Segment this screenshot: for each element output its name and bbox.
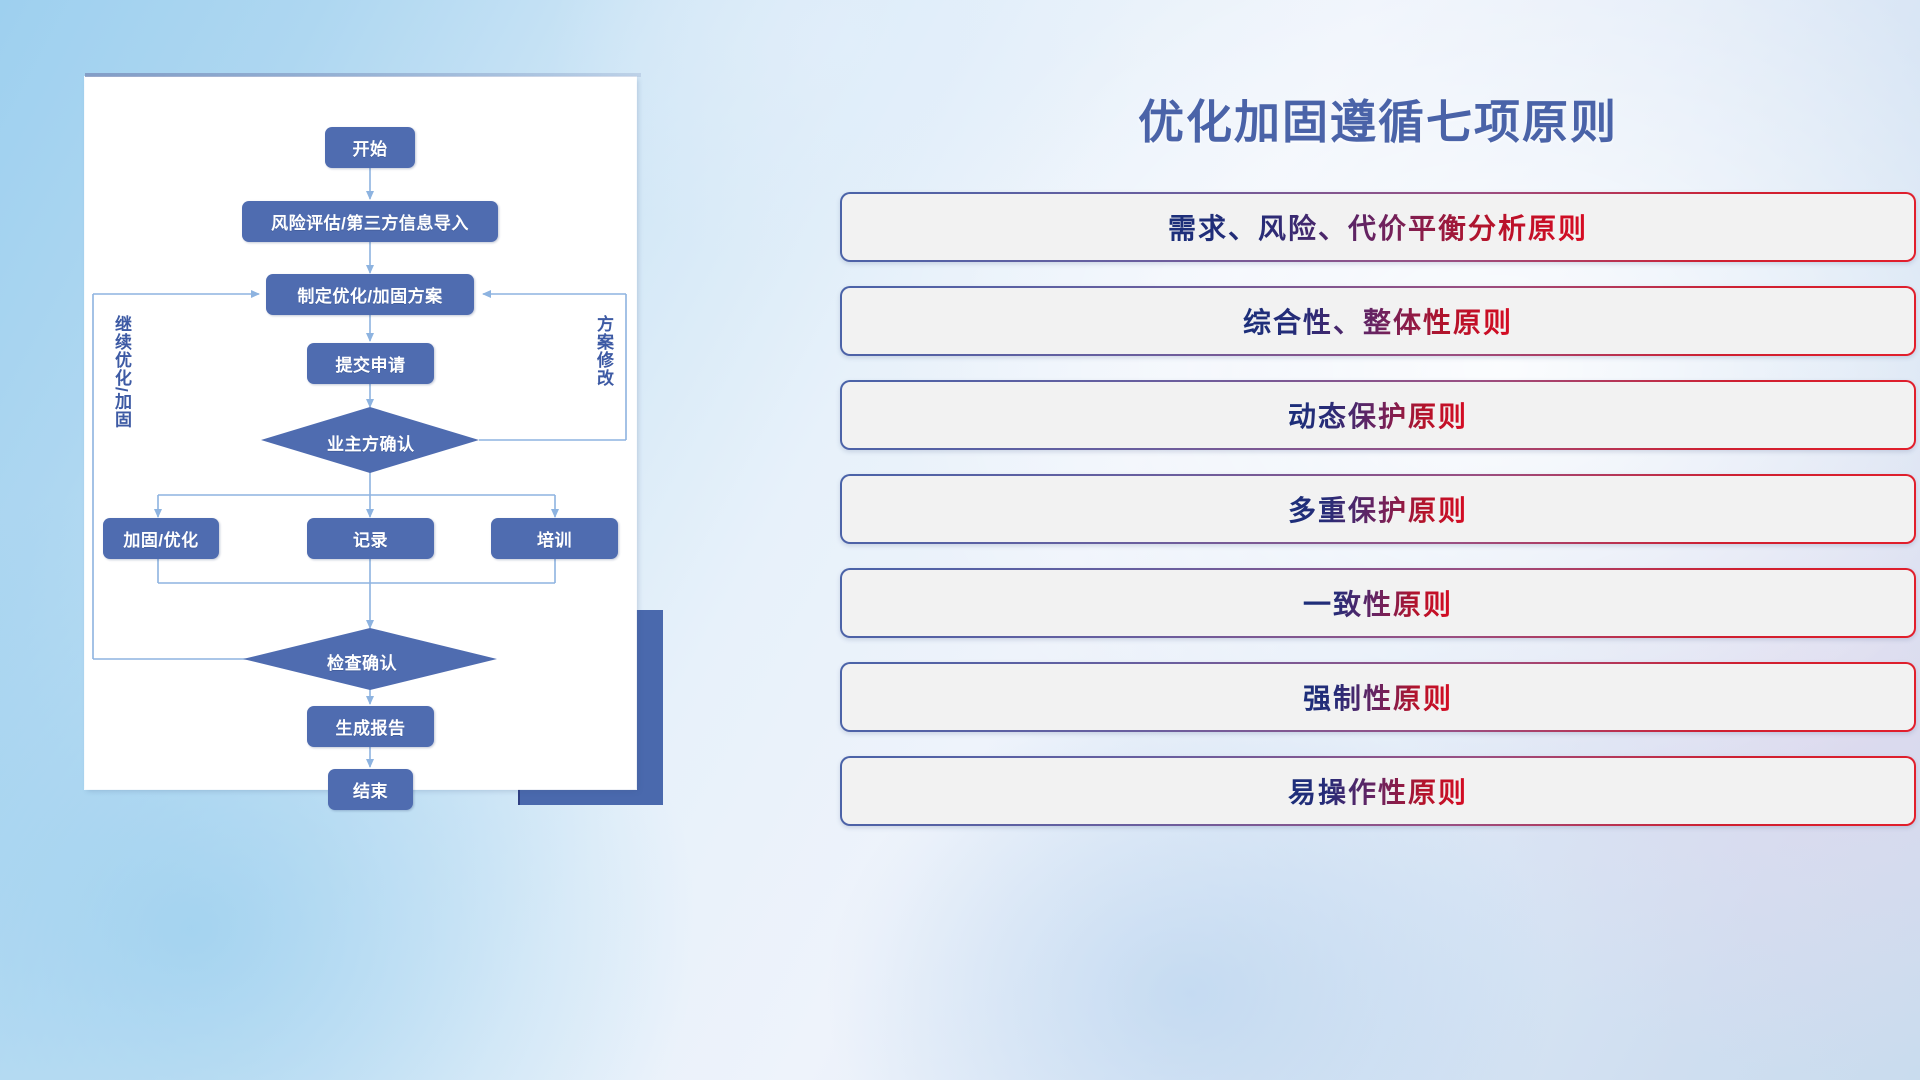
node-end[interactable]: 结束 <box>328 769 413 810</box>
principle-card[interactable]: 多重保护原则 <box>840 474 1916 544</box>
principle-card[interactable]: 易操作性原则 <box>840 756 1916 826</box>
node-training[interactable]: 培训 <box>491 518 618 559</box>
principle-card[interactable]: 动态保护原则 <box>840 380 1916 450</box>
principle-card-inner: 易操作性原则 <box>842 758 1914 824</box>
flowchart: 开始 风险评估/第三方信息导入 制定优化/加固方案 提交申请 业主方确认 加固/… <box>85 77 636 789</box>
principle-card[interactable]: 需求、风险、代价平衡分析原则 <box>840 192 1916 262</box>
node-owner-confirm-label: 业主方确认 <box>327 430 415 455</box>
principle-card[interactable]: 强制性原则 <box>840 662 1916 732</box>
edge-label-plan-revision: 方案修改 <box>594 315 612 387</box>
principle-card-inner: 综合性、整体性原则 <box>842 288 1914 354</box>
node-check-confirm-label: 检查确认 <box>327 649 397 674</box>
page-title: 优化加固遵循七项原则 <box>836 86 1920 152</box>
node-submit-application-label: 提交申请 <box>336 351 406 376</box>
node-start-label: 开始 <box>353 135 388 160</box>
principle-label: 多重保护原则 <box>1288 489 1468 529</box>
principle-card[interactable]: 一致性原则 <box>840 568 1916 638</box>
principle-label: 需求、风险、代价平衡分析原则 <box>1168 207 1588 247</box>
node-risk-assessment-label: 风险评估/第三方信息导入 <box>271 209 469 234</box>
principle-card-inner: 动态保护原则 <box>842 382 1914 448</box>
principle-label: 一致性原则 <box>1303 583 1453 623</box>
principle-label: 综合性、整体性原则 <box>1243 301 1513 341</box>
node-end-label: 结束 <box>353 777 388 802</box>
node-record[interactable]: 记录 <box>307 518 434 559</box>
node-reinforce-optimize[interactable]: 加固/优化 <box>103 518 219 559</box>
node-generate-report-label: 生成报告 <box>336 714 406 739</box>
node-submit-application[interactable]: 提交申请 <box>307 343 434 384</box>
principle-label: 强制性原则 <box>1303 677 1453 717</box>
node-start[interactable]: 开始 <box>325 127 415 168</box>
principle-label: 动态保护原则 <box>1288 395 1468 435</box>
node-record-label: 记录 <box>353 526 388 551</box>
principle-card[interactable]: 综合性、整体性原则 <box>840 286 1916 356</box>
node-make-plan-label: 制定优化/加固方案 <box>297 282 442 307</box>
principle-card-inner: 多重保护原则 <box>842 476 1914 542</box>
node-training-label: 培训 <box>537 526 572 551</box>
edge-label-continue-optimize: 继续优化/加固 <box>112 315 130 429</box>
principles-list: 需求、风险、代价平衡分析原则 综合性、整体性原则 动态保护原则 多重保护原则 <box>840 192 1916 850</box>
flowchart-card: 开始 风险评估/第三方信息导入 制定优化/加固方案 提交申请 业主方确认 加固/… <box>85 77 636 789</box>
node-risk-assessment[interactable]: 风险评估/第三方信息导入 <box>242 201 498 242</box>
node-generate-report[interactable]: 生成报告 <box>307 706 434 747</box>
principle-card-inner: 强制性原则 <box>842 664 1914 730</box>
node-make-plan[interactable]: 制定优化/加固方案 <box>266 274 474 315</box>
node-reinforce-optimize-label: 加固/优化 <box>123 526 198 551</box>
principle-card-inner: 一致性原则 <box>842 570 1914 636</box>
principles-pane: 优化加固遵循七项原则 需求、风险、代价平衡分析原则 综合性、整体性原则 动态保护… <box>836 0 1920 1080</box>
slide-root: 开始 风险评估/第三方信息导入 制定优化/加固方案 提交申请 业主方确认 加固/… <box>0 0 1920 1080</box>
principle-card-inner: 需求、风险、代价平衡分析原则 <box>842 194 1914 260</box>
principle-label: 易操作性原则 <box>1288 771 1468 811</box>
